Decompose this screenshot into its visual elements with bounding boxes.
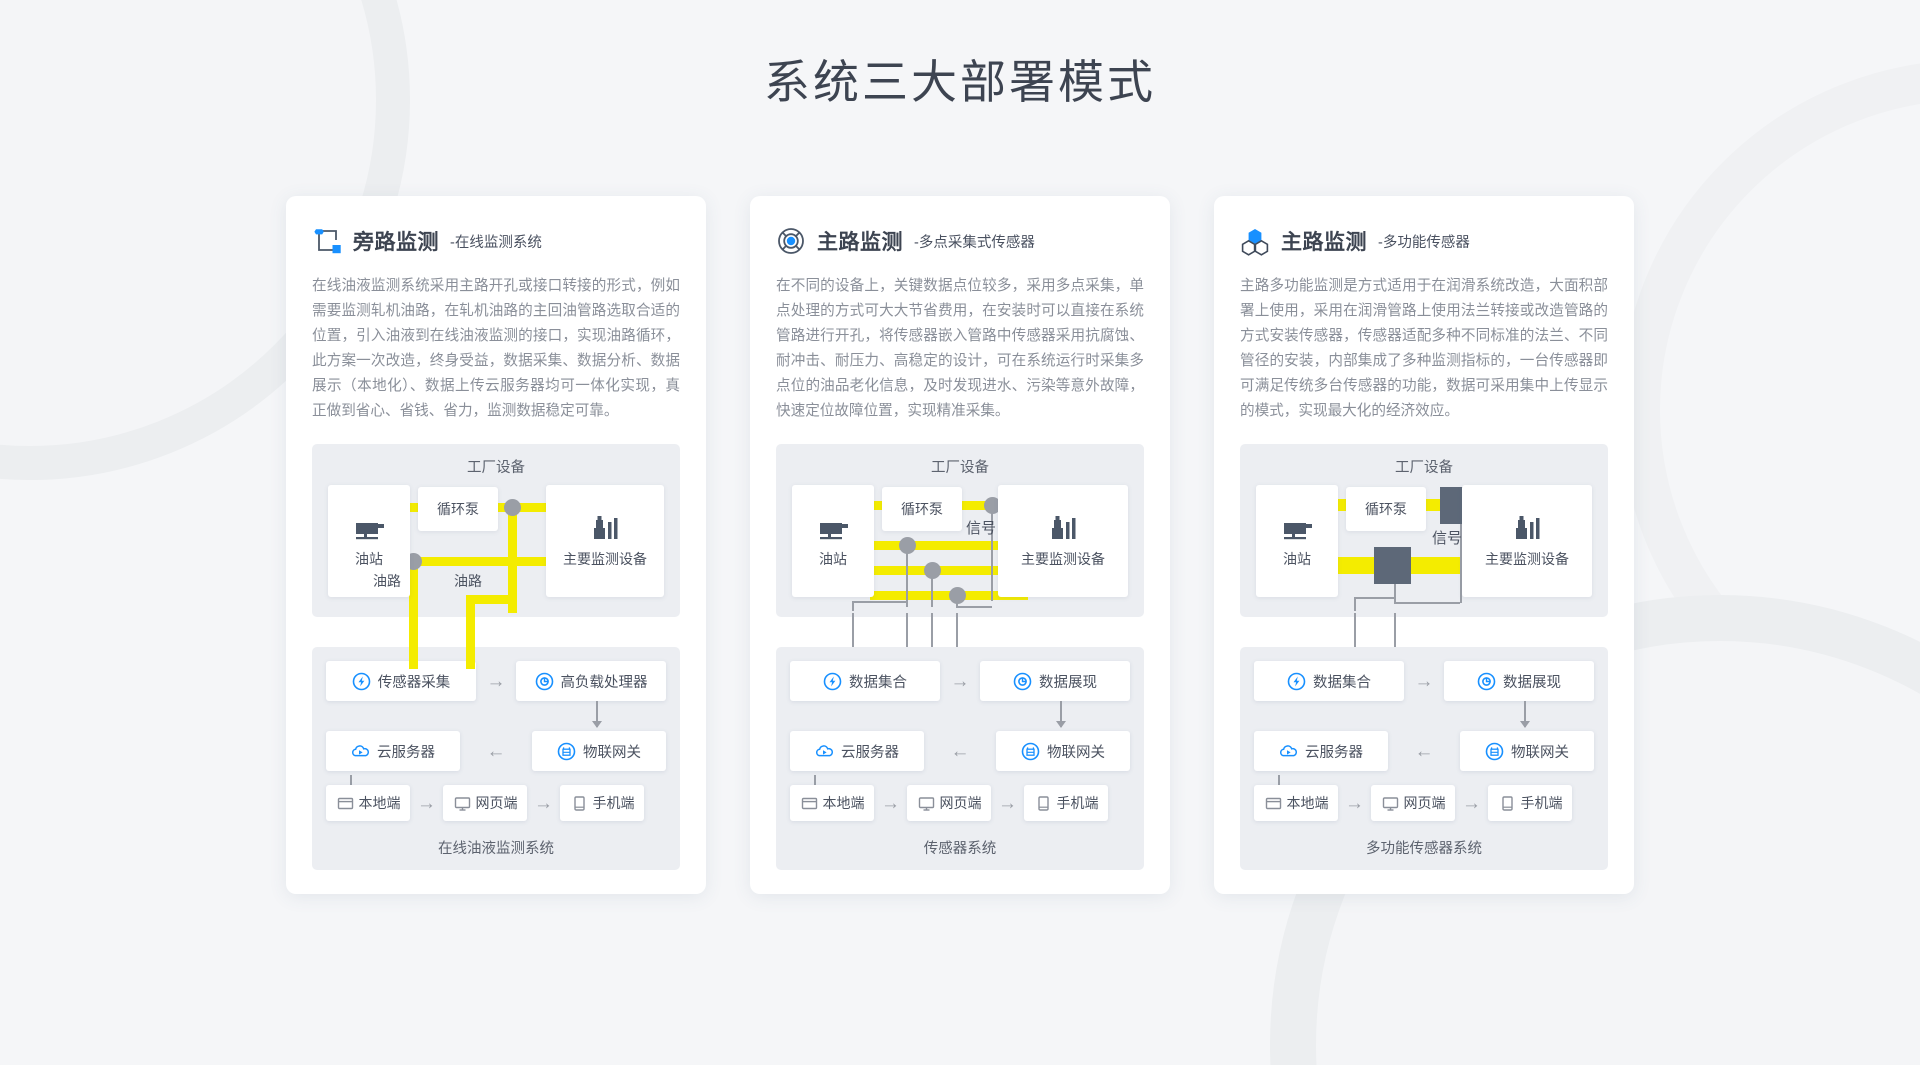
flow-node-label: 物联网关 [1511, 741, 1569, 762]
flow-node-data-collect[interactable]: 数据集合 [790, 661, 940, 701]
flow-node-cloud-server[interactable]: 云服务器 [326, 731, 460, 771]
main-route-multifunction-icon [1240, 226, 1270, 256]
processor-icon [535, 672, 554, 691]
equipment-area: 油站 循环泵 主要监测设备 [1254, 485, 1594, 603]
card-description: 在线油液监测系统采用主路开孔或接口转接的形式，例如需要监测轧机油路，在轧机油路的… [312, 274, 680, 424]
flow-node-mobile-terminal[interactable]: 手机端 [560, 785, 644, 821]
flow-node-cloud-server[interactable]: 云服务器 [1254, 731, 1388, 771]
card-main-route-multifunction[interactable]: 主路监测 -多功能传感器 主路多功能监测是方式适用于在润滑系统改造，大面积部署上… [1214, 196, 1634, 894]
signal-line-branch [1354, 597, 1394, 599]
flow-node-label: 云服务器 [1305, 741, 1363, 762]
diagram-title: 工厂设备 [790, 456, 1130, 477]
flow-node-label: 手机端 [593, 793, 635, 813]
flow-node-label: 云服务器 [841, 741, 899, 762]
signal-line-join-a [956, 606, 992, 608]
flow-node-label: 网页端 [940, 793, 982, 813]
data-collect-icon [823, 672, 842, 691]
mobile-terminal-icon [1498, 794, 1517, 813]
flow-node-mobile-terminal[interactable]: 手机端 [1024, 785, 1108, 821]
arrow-left-icon: ← [1408, 742, 1441, 761]
flow-row-1: 数据集合 → 数据展现 [1254, 661, 1594, 701]
flow-row-2: 云服务器 ← 物联网关 [326, 731, 666, 771]
flow-node-data-display[interactable]: 数据展现 [980, 661, 1130, 701]
main-monitoring-device-label: 主要监测设备 [563, 549, 647, 569]
card-bypass-monitor[interactable]: 旁路监测 -在线监测系统 在线油液监测系统采用主路开孔或接口转接的形式，例如需要… [286, 196, 706, 894]
arrow-right-icon: → [1408, 672, 1441, 691]
card-title: 主路监测 [1281, 226, 1367, 256]
card-description: 在不同的设备上，关键数据点位较多，采用多点采集，单点处理的方式可大大节省费用，在… [776, 274, 1144, 424]
bridge-signal-2 [1394, 613, 1396, 647]
system-flow-diagram: 传感器采集 → 高负载处理器 [312, 647, 680, 870]
oil-station-box: 油站 [792, 485, 874, 597]
card-subtitle: -在线监测系统 [450, 231, 542, 252]
iot-gateway-icon [557, 742, 576, 761]
sensor-dot [899, 537, 916, 554]
flow-node-label: 物联网关 [583, 741, 641, 762]
data-display-icon [1477, 672, 1496, 691]
circulation-pump-box: 循环泵 [882, 487, 962, 531]
arrow-left-icon: ← [480, 742, 513, 761]
flow-row-3: 本地端 → 网页端 → [790, 785, 1130, 821]
circulation-pump-box: 循环泵 [418, 487, 498, 531]
flow-node-label: 数据展现 [1039, 671, 1097, 692]
oil-station-icon [816, 514, 850, 544]
circulation-pump-label: 循环泵 [437, 499, 479, 519]
flow-caption: 传感器系统 [790, 837, 1130, 858]
flow-node-local-terminal[interactable]: 本地端 [1254, 785, 1338, 821]
bridge-signal-3 [931, 613, 933, 647]
arrow-down-display-to-gateway [1060, 701, 1062, 727]
flow-node-label: 手机端 [1521, 793, 1563, 813]
flow-node-local-terminal[interactable]: 本地端 [790, 785, 874, 821]
flow-row-3: 本地端 → 网页端 → [1254, 785, 1594, 821]
diagram-title: 工厂设备 [1254, 456, 1594, 477]
flow-node-mobile-terminal[interactable]: 手机端 [1488, 785, 1572, 821]
flow-node-label: 数据集合 [1313, 671, 1371, 692]
bridge-signal-1 [852, 613, 854, 647]
flow-node-iot-gateway[interactable]: 物联网关 [996, 731, 1130, 771]
card-description: 主路多功能监测是方式适用于在润滑系统改造，大面积部署上使用，采用在润滑管路上使用… [1240, 274, 1608, 424]
main-monitoring-device-box: 主要监测设备 [1462, 485, 1592, 597]
flow-node-label: 数据集合 [849, 671, 907, 692]
flow-node-label: 网页端 [476, 793, 518, 813]
sensor-dot [924, 562, 941, 579]
oil-station-icon [1280, 514, 1314, 544]
flow-node-label: 手机端 [1057, 793, 1099, 813]
oil-route-label-right: 油路 [454, 571, 482, 591]
card-subtitle: -多功能传感器 [1378, 231, 1470, 252]
bypass-monitor-icon [312, 226, 342, 256]
diagram-flow-bridge [1240, 617, 1608, 647]
flow-node-label: 本地端 [359, 793, 401, 813]
flow-node-label: 物联网关 [1047, 741, 1105, 762]
web-terminal-icon [453, 794, 472, 813]
signal-label: 信号 [966, 517, 996, 538]
flow-node-iot-gateway[interactable]: 物联网关 [532, 731, 666, 771]
page-title: 系统三大部署模式 [0, 46, 1920, 112]
monitoring-device-icon [1047, 514, 1079, 544]
data-collect-icon [1287, 672, 1306, 691]
local-terminal-icon [336, 794, 355, 813]
signal-line-join-c [852, 601, 854, 611]
card-main-route-multipoint[interactable]: 主路监测 -多点采集式传感器 在不同的设备上，关键数据点位较多，采用多点采集，单… [750, 196, 1170, 894]
flow-node-web-terminal[interactable]: 网页端 [443, 785, 527, 821]
oil-station-box: 油站 [1256, 485, 1338, 597]
oil-station-label: 油站 [1283, 549, 1311, 569]
multifunction-sensor [1374, 547, 1411, 584]
mobile-terminal-icon [1034, 794, 1053, 813]
flow-node-label: 网页端 [1404, 793, 1446, 813]
factory-equipment-diagram: 工厂设备 [776, 444, 1144, 617]
flow-node-iot-gateway[interactable]: 物联网关 [1460, 731, 1594, 771]
signal-line-join-b [852, 601, 908, 603]
flow-node-label: 高负载处理器 [561, 671, 648, 692]
sensor-dot [949, 587, 966, 604]
mobile-terminal-icon [570, 794, 589, 813]
card-header: 主路监测 -多点采集式传感器 [776, 226, 1144, 256]
signal-label: 信号 [1432, 527, 1462, 548]
card-header: 旁路监测 -在线监测系统 [312, 226, 680, 256]
arrow-right-icon: → [1455, 794, 1488, 813]
arrow-right-icon: → [480, 672, 513, 691]
bridge-signal-2 [906, 613, 908, 647]
bridge-signal-4 [956, 613, 958, 647]
flow-node-cloud-server[interactable]: 云服务器 [790, 731, 924, 771]
main-monitoring-device-box: 主要监测设备 [546, 485, 664, 597]
factory-equipment-diagram: 工厂设备 [1240, 444, 1608, 617]
cloud-server-icon [1279, 742, 1298, 761]
flow-row-3: 本地端 → 网页端 → [326, 785, 666, 821]
iot-gateway-icon [1485, 742, 1504, 761]
equipment-area: 油站 循环泵 主要监测设备 [326, 485, 666, 603]
flow-node-label: 云服务器 [377, 741, 435, 762]
web-terminal-icon [1381, 794, 1400, 813]
flow-node-label: 传感器采集 [378, 671, 451, 692]
main-route-multipoint-icon [776, 226, 806, 256]
oil-station-icon [352, 514, 386, 544]
flow-node-data-display[interactable]: 数据展现 [1444, 661, 1594, 701]
oil-route-label-left: 油路 [373, 571, 401, 591]
diagram-title: 工厂设备 [326, 456, 666, 477]
flow-node-data-collect[interactable]: 数据集合 [1254, 661, 1404, 701]
circulation-pump-label: 循环泵 [1365, 499, 1407, 519]
signal-line-join [1394, 602, 1460, 604]
data-display-icon [1013, 672, 1032, 691]
system-flow-diagram: 数据集合 → 数据展现 [1240, 647, 1608, 870]
flow-node-label: 数据展现 [1503, 671, 1561, 692]
cards-container: 旁路监测 -在线监测系统 在线油液监测系统采用主路开孔或接口转接的形式，例如需要… [0, 196, 1920, 894]
card-header: 主路监测 -多功能传感器 [1240, 226, 1608, 256]
flow-node-label: 本地端 [1287, 793, 1329, 813]
factory-equipment-diagram: 工厂设备 [312, 444, 680, 617]
flow-caption: 多功能传感器系统 [1254, 837, 1594, 858]
main-monitoring-device-label: 主要监测设备 [1021, 549, 1105, 569]
card-title: 旁路监测 [353, 226, 439, 256]
arrow-down-display-to-gateway [1524, 701, 1526, 727]
web-terminal-icon [917, 794, 936, 813]
card-subtitle: -多点采集式传感器 [914, 231, 1035, 252]
monitoring-device-icon [1511, 514, 1543, 544]
arrow-right-icon: → [944, 672, 977, 691]
flow-node-local-terminal[interactable]: 本地端 [326, 785, 410, 821]
oil-station-label: 油站 [355, 549, 383, 569]
sensor-dot [504, 499, 521, 516]
flow-row-2: 云服务器 ← 物联网关 [1254, 731, 1594, 771]
signal-line-2 [906, 549, 908, 607]
arrow-right-icon: → [410, 794, 443, 813]
bridge-pipe-left [409, 613, 418, 647]
flow-caption: 在线油液监测系统 [326, 837, 666, 858]
arrow-right-icon: → [1338, 794, 1371, 813]
local-terminal-icon [1264, 794, 1283, 813]
arrow-down-processor-to-gateway [596, 701, 598, 727]
arrow-left-icon: ← [944, 742, 977, 761]
local-terminal-icon [800, 794, 819, 813]
flow-row-1: 数据集合 → 数据展现 [790, 661, 1130, 701]
arrow-right-icon: → [527, 794, 560, 813]
monitoring-device-icon [589, 514, 621, 544]
cloud-server-icon [351, 742, 370, 761]
flow-node-web-terminal[interactable]: 网页端 [1371, 785, 1455, 821]
card-title: 主路监测 [817, 226, 903, 256]
bridge-pipe-right [466, 613, 475, 647]
oil-station-label: 油站 [819, 549, 847, 569]
flow-node-web-terminal[interactable]: 网页端 [907, 785, 991, 821]
equipment-area: 油站 循环泵 主要监测设备 [790, 485, 1130, 603]
flow-row-2: 云服务器 ← 物联网关 [790, 731, 1130, 771]
flow-row-1: 传感器采集 → 高负载处理器 [326, 661, 666, 701]
main-monitoring-device-box: 主要监测设备 [998, 485, 1128, 597]
diagram-flow-bridge [312, 617, 680, 647]
bridge-signal-1 [1354, 613, 1356, 647]
diagram-flow-bridge [776, 617, 1144, 647]
flow-node-label: 本地端 [823, 793, 865, 813]
iot-gateway-icon [1021, 742, 1040, 761]
flow-node-sensor-collect[interactable]: 传感器采集 [326, 661, 476, 701]
main-monitoring-device-label: 主要监测设备 [1485, 549, 1569, 569]
deployment-modes-page: 系统三大部署模式 旁路监测 -在线监测系统 在线油液监测系统采用主路开孔或接口转… [0, 0, 1920, 1065]
system-flow-diagram: 数据集合 → 数据展现 [776, 647, 1144, 870]
circulation-pump-label: 循环泵 [901, 499, 943, 519]
arrow-right-icon: → [991, 794, 1024, 813]
sensor-collect-icon [352, 672, 371, 691]
cloud-server-icon [815, 742, 834, 761]
signal-line-branch-down [1354, 597, 1356, 611]
flow-node-high-load-processor[interactable]: 高负载处理器 [516, 661, 666, 701]
arrow-right-icon: → [874, 794, 907, 813]
circulation-pump-box: 循环泵 [1346, 487, 1426, 531]
